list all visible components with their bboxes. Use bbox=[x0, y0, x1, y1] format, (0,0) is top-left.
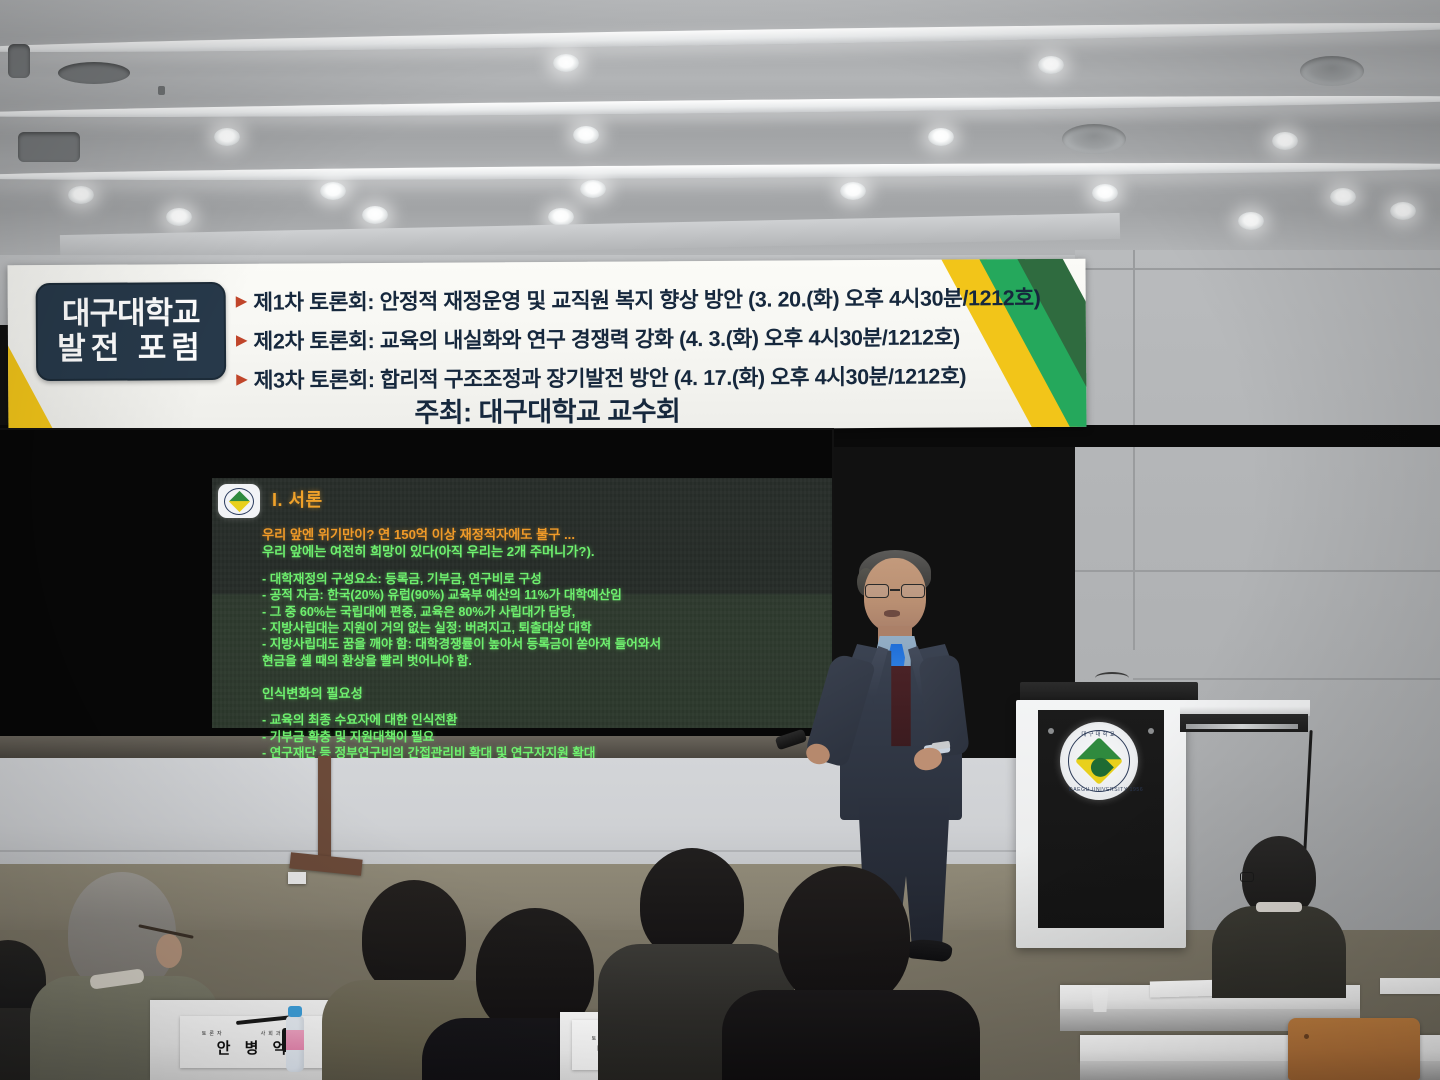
audience-glasses-icon bbox=[1240, 872, 1254, 882]
bullet-arrow-icon: ▶ bbox=[236, 371, 248, 386]
audience-member-foreground bbox=[736, 866, 976, 1080]
downlight bbox=[553, 54, 579, 72]
session-row: ▶ 제2차 토론회: 교육의 내실화와 연구 경쟁력 강화 (4. 3.(화) … bbox=[236, 318, 996, 357]
slide-bullet: - 지방사립대도 꿈을 깨야 함: 대학경쟁률이 높아서 등록금이 쏟아져 들어… bbox=[262, 636, 826, 652]
wall-seam bbox=[1133, 250, 1135, 650]
ceiling-beam bbox=[60, 213, 1120, 261]
downlight bbox=[68, 186, 94, 204]
slide-bullet: 현금을 셀 때의 환상을 빨리 벗어나야 함. bbox=[262, 653, 826, 669]
slide-bullet: - 공적 자금: 한국(20%) 유럽(90%) 교육부 예산의 11%가 대학… bbox=[262, 587, 826, 603]
downlight bbox=[320, 182, 346, 200]
audience-head bbox=[778, 866, 910, 1008]
sprinkler-head bbox=[158, 86, 165, 95]
slide-section-bullet: - 기부금 확충 및 지원대책이 필요 bbox=[262, 729, 826, 745]
forum-badge-line1: 대구대학교 bbox=[62, 296, 200, 332]
downlight bbox=[1238, 212, 1264, 230]
slide-section-heading: 인식변화의 필요성 bbox=[262, 685, 826, 702]
slide-bullet: - 대학재정의 구성요소: 등록금, 기부금, 연구비로 구성 bbox=[262, 571, 826, 587]
screen-support-pad bbox=[288, 872, 306, 884]
downlight bbox=[1330, 188, 1356, 206]
ceiling bbox=[0, 0, 1440, 262]
downlight bbox=[928, 128, 954, 146]
downlight bbox=[573, 126, 599, 144]
ceiling-vent-1 bbox=[8, 44, 30, 78]
audience-ear bbox=[156, 934, 182, 968]
ceiling-cove-light-2 bbox=[0, 92, 1440, 122]
presentation-hall-photo: 대구대학교 발전 포럼 ▶ 제1차 토론회: 안정적 재정운영 및 교직원 복지… bbox=[0, 0, 1440, 1080]
water-bottle-cap bbox=[288, 1006, 302, 1017]
water-bottle-label bbox=[286, 1030, 304, 1050]
downlight bbox=[1272, 132, 1298, 150]
wooden-chair-back bbox=[1288, 1018, 1420, 1080]
podium-screw bbox=[1048, 728, 1054, 734]
forum-badge: 대구대학교 발전 포럼 bbox=[36, 282, 227, 381]
downlight bbox=[1038, 56, 1064, 74]
session-text: 제1차 토론회: 안정적 재정운영 및 교직원 복지 향상 방안 (3. 20.… bbox=[253, 280, 1040, 316]
ceiling-cove-light-1 bbox=[0, 18, 1440, 58]
session-row: ▶ 제1차 토론회: 안정적 재정운영 및 교직원 복지 향상 방안 (3. 2… bbox=[236, 279, 996, 318]
slide-bullet: - 그 중 60%는 국립대에 편중, 교육은 80%가 사립대가 담당, bbox=[262, 604, 826, 620]
podium-screw bbox=[1148, 728, 1154, 734]
forum-badge-line2: 발전 포럼 bbox=[57, 331, 205, 367]
chair-screw bbox=[1304, 1034, 1309, 1039]
slide-title: I. 서론 bbox=[272, 486, 323, 512]
bullet-arrow-icon: ▶ bbox=[236, 293, 248, 308]
podium-microphone bbox=[1095, 672, 1129, 684]
slide-headline-green: 우리 앞에는 여전히 희망이 있다(아직 우리는 2개 주머니가?). bbox=[262, 543, 826, 560]
audience-torso bbox=[722, 990, 980, 1080]
slide-bullet: - 지방사립대는 지원이 거의 없는 실정: 버려지고, 퇴출대상 대학 bbox=[262, 620, 826, 636]
downlight bbox=[840, 182, 866, 200]
downlight bbox=[214, 128, 240, 146]
event-banner: 대구대학교 발전 포럼 ▶ 제1차 토론회: 안정적 재정운영 및 교직원 복지… bbox=[7, 259, 1086, 434]
wall-seam bbox=[1075, 268, 1440, 270]
university-logo-icon bbox=[218, 484, 260, 518]
screen-support-post bbox=[318, 756, 331, 864]
audience-torso bbox=[1212, 906, 1346, 998]
downlight bbox=[362, 206, 388, 224]
ceiling-vent-2 bbox=[58, 62, 130, 84]
papers-on-table bbox=[1380, 978, 1440, 994]
nameplate-role: 토론자 bbox=[202, 1030, 225, 1037]
av-equipment-box bbox=[1180, 714, 1308, 732]
emblem-bottom-text: DAEGU UNIVERSITY 1956 bbox=[1069, 787, 1129, 793]
downlight bbox=[1390, 202, 1416, 220]
audience-collar bbox=[1256, 902, 1302, 912]
av-equipment-panel bbox=[1186, 724, 1298, 729]
downlight bbox=[166, 208, 192, 226]
banner-host-text: 주최: 대구대학교 교수회 bbox=[8, 387, 1086, 433]
presenter-glasses-icon bbox=[864, 584, 926, 599]
downlight bbox=[548, 208, 574, 226]
downlight bbox=[1092, 184, 1118, 202]
slide-section-bullet: - 교육의 최종 수요자에 대한 인식전환 bbox=[262, 712, 826, 728]
audience-member-right-back bbox=[1212, 836, 1342, 986]
podium-university-emblem: 대구대학교 DAEGU UNIVERSITY 1956 bbox=[1060, 722, 1138, 800]
presenter-mouth bbox=[884, 610, 900, 617]
bullet-arrow-icon: ▶ bbox=[236, 332, 248, 347]
recessed-speaker-2 bbox=[1062, 124, 1126, 154]
ceiling-cove-light-3 bbox=[0, 159, 1440, 183]
recessed-speaker-1 bbox=[1300, 56, 1364, 86]
projected-slide: I. 서론 우리 앞엔 위기만이? 연 150억 이상 재정적자에도 불구 ..… bbox=[212, 478, 832, 728]
session-list: ▶ 제1차 토론회: 안정적 재정운영 및 교직원 복지 향상 방안 (3. 2… bbox=[236, 279, 997, 401]
slide-headline-orange: 우리 앞엔 위기만이? 연 150억 이상 재정적자에도 불구 ... bbox=[262, 526, 826, 543]
ceiling-vent-3 bbox=[18, 132, 80, 162]
nameplate-an-byeong-eok: 토론자 사회과학대학 안 병 억 bbox=[180, 1016, 328, 1068]
session-text: 제2차 토론회: 교육의 내실화와 연구 경쟁력 강화 (4. 3.(화) 오후… bbox=[253, 320, 960, 355]
wall-seam bbox=[1075, 570, 1440, 572]
slide-body: 우리 앞엔 위기만이? 연 150억 이상 재정적자에도 불구 ... 우리 앞… bbox=[262, 526, 826, 762]
downlight bbox=[580, 180, 606, 198]
wall-seam bbox=[1133, 678, 1440, 680]
nameplate-name: 안 병 억 bbox=[217, 1037, 292, 1058]
emblem-diamond-icon bbox=[1075, 737, 1123, 785]
